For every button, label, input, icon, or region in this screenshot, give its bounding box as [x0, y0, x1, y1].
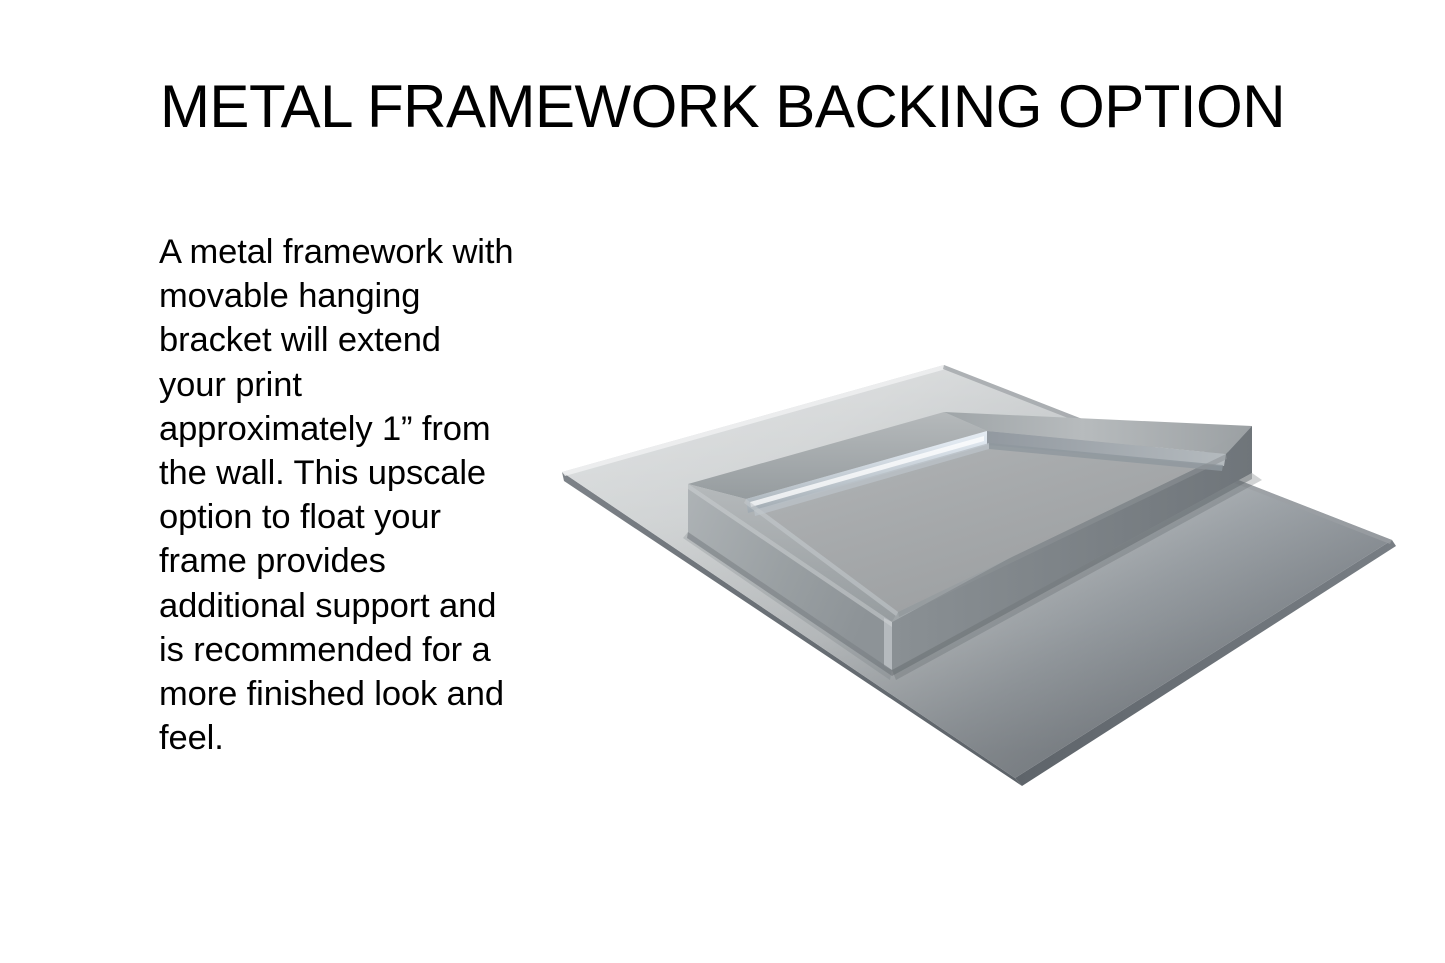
body-line: movable hanging [159, 274, 549, 318]
body-line: additional support and [159, 584, 549, 628]
page-title: METAL FRAMEWORK BACKING OPTION [0, 74, 1445, 140]
body-paragraph: A metal framework with movable hanging b… [159, 230, 549, 760]
metal-framework-backing-photo [540, 350, 1420, 820]
slide-canvas: METAL FRAMEWORK BACKING OPTION A metal f… [0, 0, 1445, 963]
body-line: your print [159, 363, 549, 407]
body-line: the wall. This upscale [159, 451, 549, 495]
body-line: approximately 1” from [159, 407, 549, 451]
body-line: more finished look and [159, 672, 549, 716]
body-line: bracket will extend [159, 318, 549, 362]
metal-framework-illustration [540, 350, 1420, 820]
body-line: feel. [159, 716, 549, 760]
body-line: A metal framework with [159, 230, 549, 274]
body-line: frame provides [159, 539, 549, 583]
body-line: is recommended for a [159, 628, 549, 672]
body-line: option to float your [159, 495, 549, 539]
